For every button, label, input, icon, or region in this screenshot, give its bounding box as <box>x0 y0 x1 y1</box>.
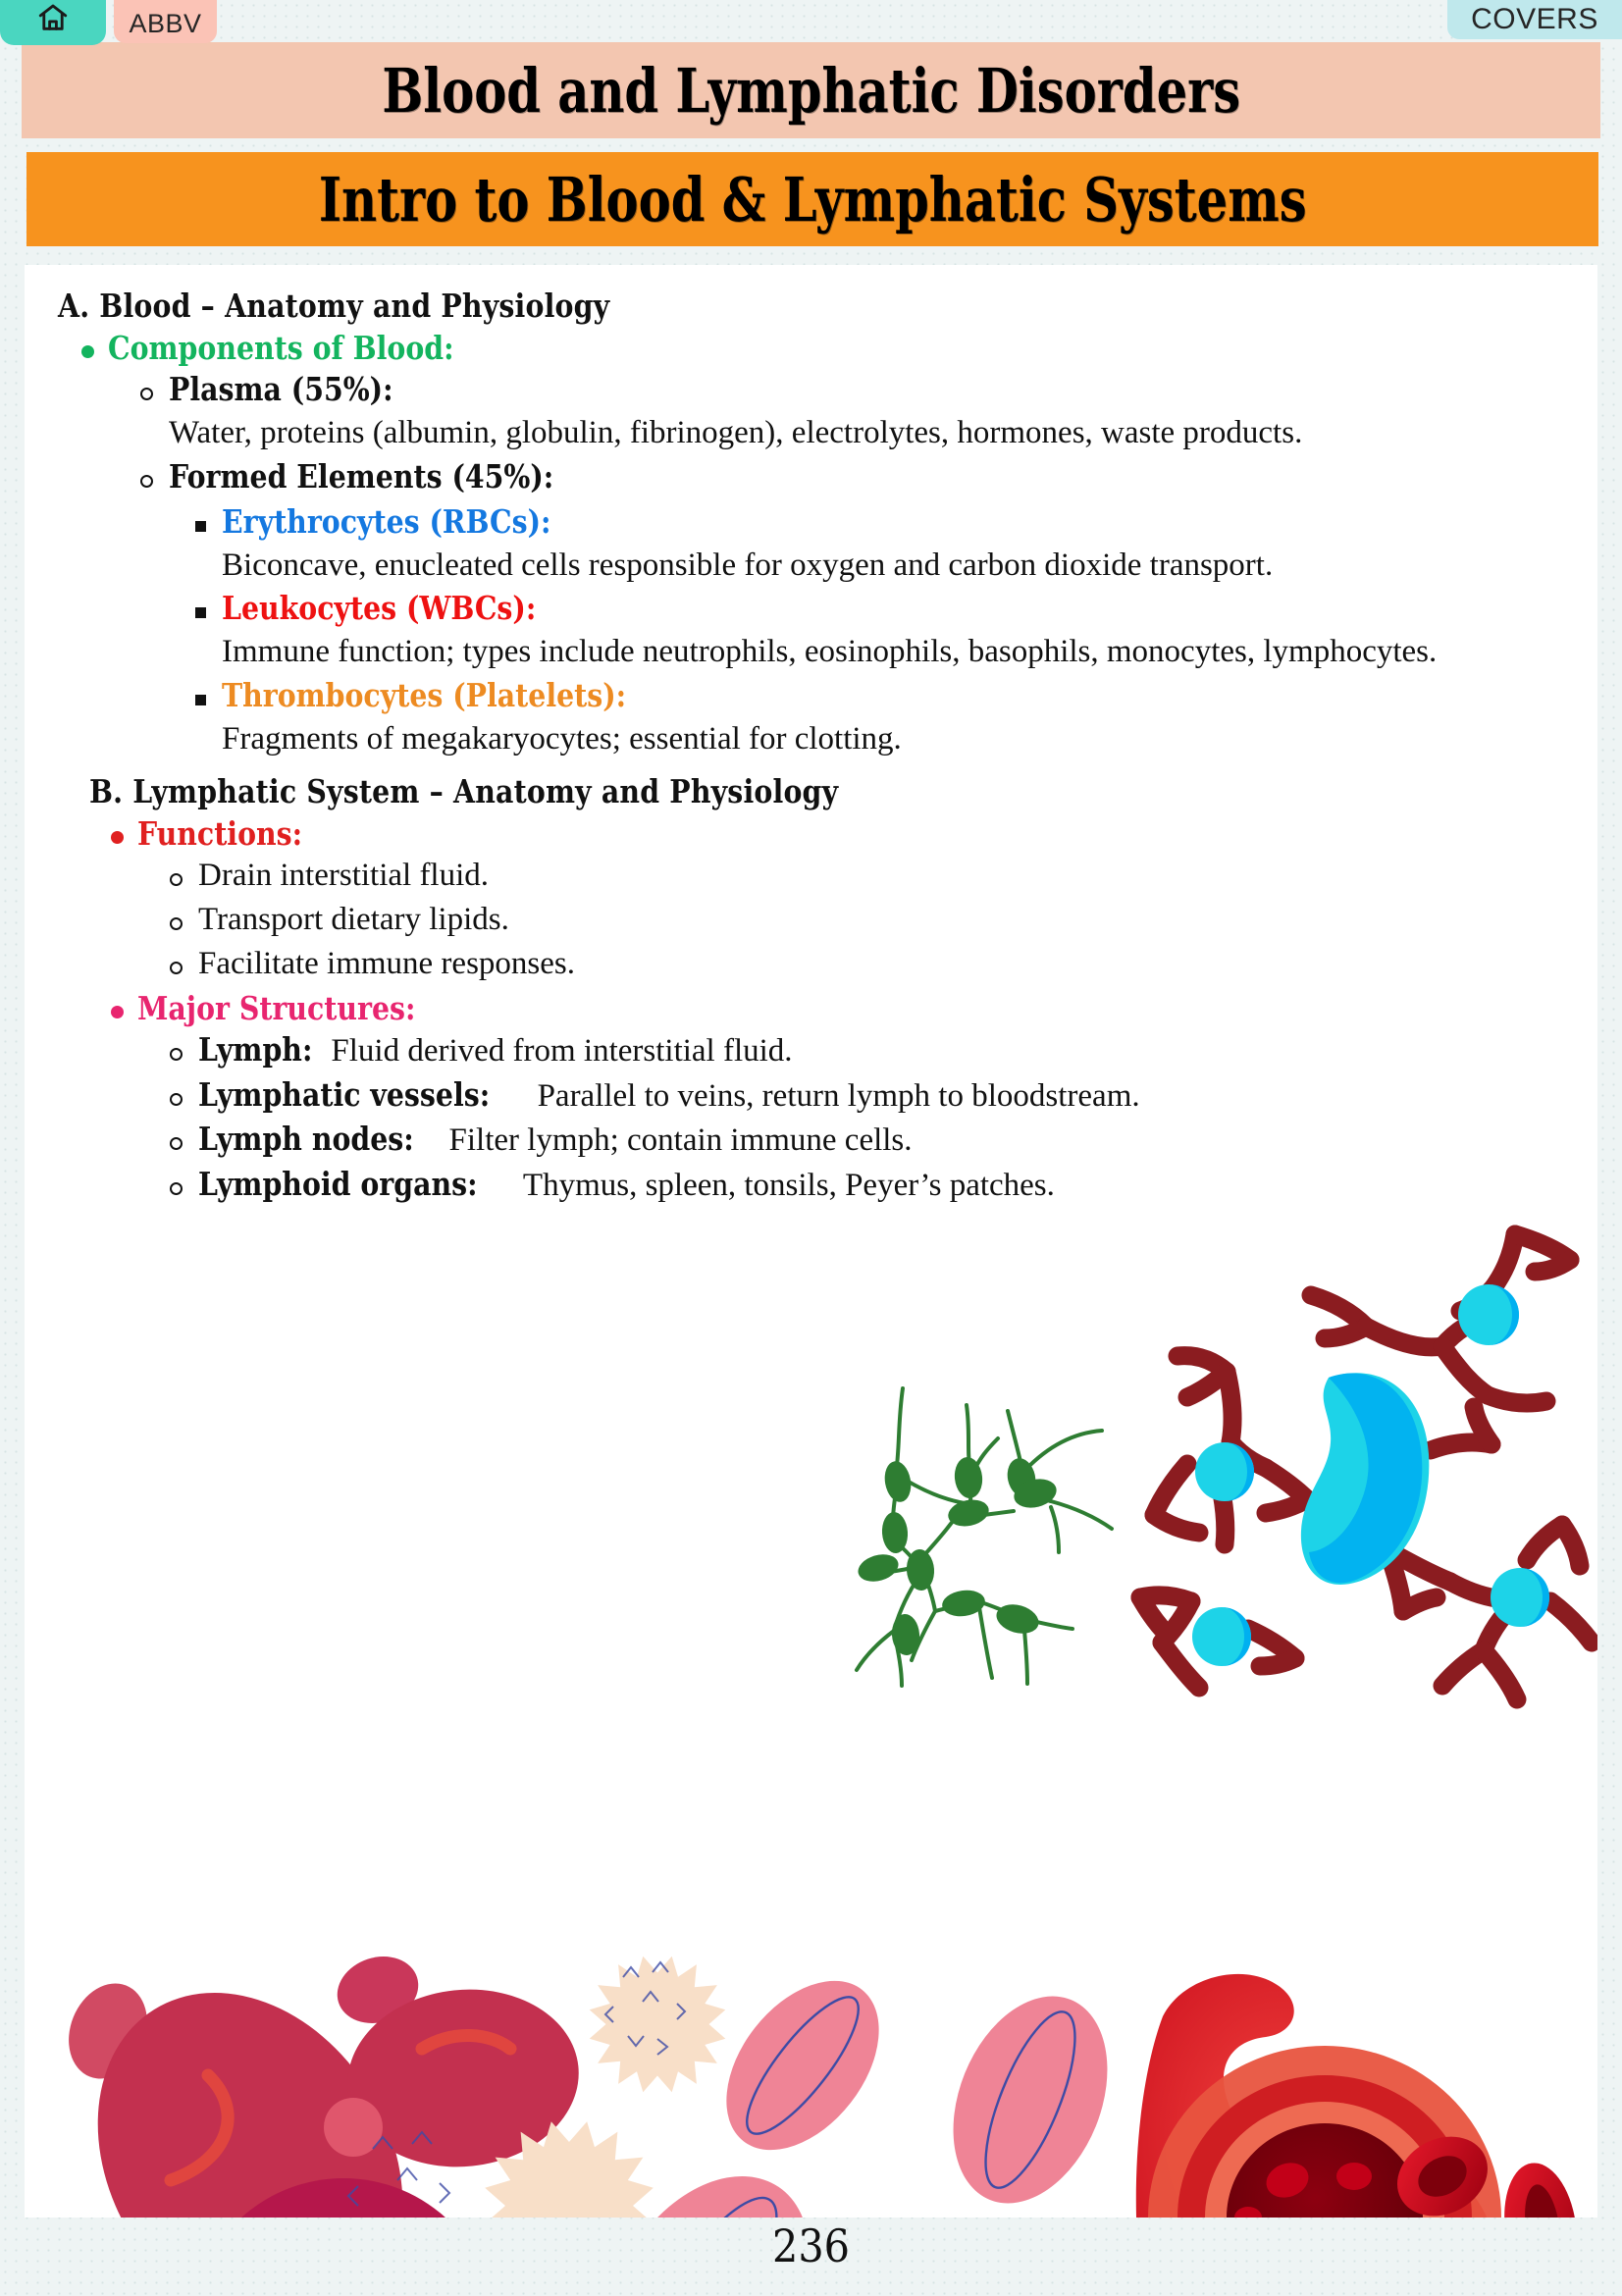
bullet-thrombocytes: Thrombocytes (Platelets): Fragments of m… <box>195 675 1441 760</box>
bullet-dot-pink <box>111 1006 124 1018</box>
plasma-line: Plasma (55%): Water, proteins (albumin, … <box>169 369 1441 454</box>
bullet-ring <box>170 873 183 886</box>
section-b-heading: B. Lymphatic System – Anatomy and Physio… <box>89 772 1252 810</box>
green-lymphatic-network-icon <box>849 1383 1153 1688</box>
body-copy: A. Blood – Anatomy and Physiology Compon… <box>38 275 1441 1209</box>
lymphoid-organs-line: Lymphoid organs: Thymus, spleen, tonsils… <box>198 1164 1055 1207</box>
bullet-ring <box>170 1093 183 1106</box>
home-button[interactable] <box>0 0 106 45</box>
major-structures-label: Major Structures: <box>137 989 416 1027</box>
lymph-nodes-line: Lymph nodes: Filter lymph; contain immun… <box>198 1119 913 1162</box>
bullet-square <box>195 607 206 618</box>
leukocytes-line: Leukocytes (WBCs): Immune function; type… <box>222 588 1441 673</box>
content-card: A. Blood – Anatomy and Physiology Compon… <box>25 265 1597 2218</box>
section-a-heading: A. Blood – Anatomy and Physiology <box>58 287 1248 325</box>
lymph-nodes-text: Filter lymph; contain immune cells. <box>449 1120 913 1162</box>
bullet-functions: Functions: <box>111 814 1441 853</box>
lymph-text: Fluid derived from interstitial fluid. <box>331 1030 792 1072</box>
erythrocytes-label: Erythrocytes (RBCs): <box>222 501 550 544</box>
formed-elements-label: Formed Elements (45%): <box>169 456 553 498</box>
lymph-nodes-label: Lymph nodes: <box>198 1119 414 1161</box>
thrombocytes-label: Thrombocytes (Platelets): <box>222 675 626 717</box>
bullet-ring <box>140 388 153 400</box>
function-3-text: Facilitate immune responses. <box>198 943 575 985</box>
erythrocytes-text: Biconcave, enucleated cells responsible … <box>222 545 1273 587</box>
bullet-plasma: Plasma (55%): Water, proteins (albumin, … <box>140 369 1441 454</box>
thrombocytes-text: Fragments of megakaryocytes; essential f… <box>222 718 902 760</box>
lymph-line: Lymph: Fluid derived from interstitial f… <box>198 1029 793 1072</box>
components-of-blood-label: Components of Blood: <box>108 329 454 367</box>
lymphoid-organs-text: Thymus, spleen, tonsils, Peyer’s patches… <box>523 1165 1055 1207</box>
bullet-ring <box>170 1048 183 1061</box>
page-number: 236 <box>81 2219 1542 2272</box>
lymph-label: Lymph: <box>198 1029 312 1071</box>
lymphatic-vessels-line: Lymphatic vessels: Parallel to veins, re… <box>198 1074 1140 1118</box>
plasma-label: Plasma (55%): <box>169 369 393 411</box>
bullet-ring <box>140 475 153 488</box>
bullet-ring <box>170 1182 183 1195</box>
lymphatic-vessels-label: Lymphatic vessels: <box>198 1074 490 1117</box>
bullet-lymphatic-vessels: Lymphatic vessels: Parallel to veins, re… <box>170 1074 1441 1118</box>
erythrocytes-line: Erythrocytes (RBCs): Biconcave, enucleat… <box>222 501 1441 587</box>
function-1-text: Drain interstitial fluid. <box>198 855 489 897</box>
bullet-dot-green <box>81 345 94 358</box>
bullet-ring <box>170 1137 183 1150</box>
bullet-erythrocytes: Erythrocytes (RBCs): Biconcave, enucleat… <box>195 501 1441 587</box>
covers-button[interactable]: COVERS <box>1447 0 1622 39</box>
bullet-function-2: Transport dietary lipids. <box>170 899 1441 941</box>
bullet-lymphoid-organs: Lymphoid organs: Thymus, spleen, tonsils… <box>170 1164 1441 1207</box>
lymphatic-vessels-text: Parallel to veins, return lymph to blood… <box>538 1075 1140 1118</box>
bullet-lymph: Lymph: Fluid derived from interstitial f… <box>170 1029 1441 1072</box>
bullet-square <box>195 695 206 705</box>
topic-subtitle: Intro to Blood & Lymphatic Systems <box>319 164 1307 235</box>
plasma-text: Water, proteins (albumin, globulin, fibr… <box>169 412 1302 454</box>
lymph-node-dendritic-network-icon <box>1119 1207 1597 1717</box>
bullet-components-of-blood: Components of Blood: <box>81 329 1441 367</box>
lymphoid-organs-label: Lymphoid organs: <box>198 1164 478 1206</box>
function-2-text: Transport dietary lipids. <box>198 899 509 941</box>
bullet-function-3: Facilitate immune responses. <box>170 943 1441 985</box>
lymph-node-shape <box>1301 1373 1429 1585</box>
topbar: ABBV COVERS <box>0 0 1622 45</box>
bullet-leukocytes: Leukocytes (WBCs): Immune function; type… <box>195 588 1441 673</box>
chapter-title: Blood and Lymphatic Disorders <box>382 55 1240 127</box>
leukocytes-label: Leukocytes (WBCs): <box>222 588 536 630</box>
bullet-major-structures: Major Structures: <box>111 989 1441 1027</box>
chapter-title-banner: Blood and Lymphatic Disorders <box>22 42 1600 138</box>
bullet-ring <box>170 962 183 974</box>
functions-label: Functions: <box>137 814 302 853</box>
topic-subtitle-banner: Intro to Blood & Lymphatic Systems <box>26 152 1598 246</box>
leukocytes-text: Immune function; types include neutrophi… <box>222 631 1437 673</box>
bullet-ring <box>170 917 183 930</box>
blood-cells-and-vessel-icon <box>49 1923 1597 2218</box>
abbv-button[interactable]: ABBV <box>114 0 217 43</box>
home-icon <box>36 1 70 39</box>
bullet-square <box>195 521 206 532</box>
bullet-lymph-nodes: Lymph nodes: Filter lymph; contain immun… <box>170 1119 1441 1162</box>
formed-elements-line: Formed Elements (45%): <box>169 456 616 499</box>
thrombocytes-line: Thrombocytes (Platelets): Fragments of m… <box>222 675 1232 760</box>
bullet-formed-elements: Formed Elements (45%): <box>140 456 1441 499</box>
bullet-function-1: Drain interstitial fluid. <box>170 855 1441 897</box>
bullet-dot-red <box>111 831 124 844</box>
